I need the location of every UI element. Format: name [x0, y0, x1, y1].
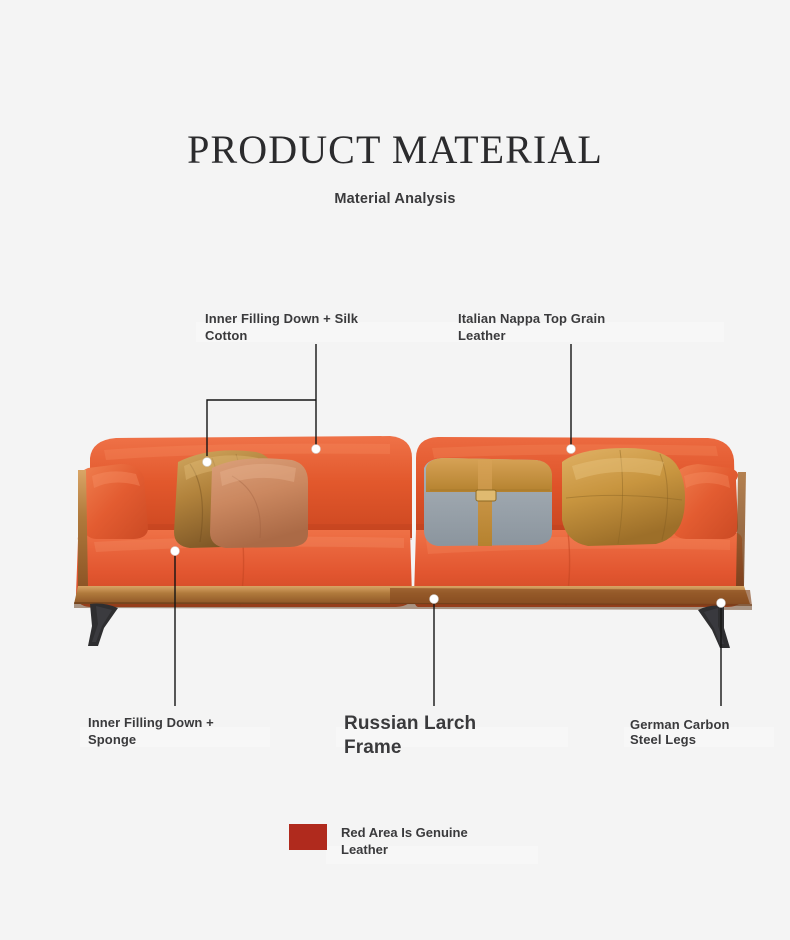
infographic-canvas: PRODUCT MATERIAL Material Analysis	[0, 0, 790, 940]
color-swatch-icon	[289, 824, 327, 850]
annotation-label-german-carbon-steel-legs: German Carbon Steel Legs	[630, 718, 730, 747]
pillow-grey-buckle	[476, 490, 496, 501]
sofa-illustration	[60, 420, 760, 650]
annotation-label-italian-nappa-top-grain-leather: Italian Nappa Top Grain Leather	[458, 310, 605, 344]
annotation-label-russian-larch-frame: Russian Larch Frame	[344, 712, 476, 760]
legend-label: Red Area Is Genuine Leather	[341, 824, 468, 859]
annotation-label-inner-filling-down-silk-cotton: Inner Filling Down + Silk Cotton	[205, 310, 358, 344]
pillow-grey-strap	[478, 460, 492, 546]
page-subtitle: Material Analysis	[0, 191, 790, 207]
page-title: PRODUCT MATERIAL	[0, 126, 790, 173]
legend: Red Area Is Genuine Leather	[289, 824, 468, 859]
annotation-label-inner-filling-down-sponge: Inner Filling Down + Sponge	[88, 714, 214, 748]
frame-post-right	[736, 472, 746, 586]
